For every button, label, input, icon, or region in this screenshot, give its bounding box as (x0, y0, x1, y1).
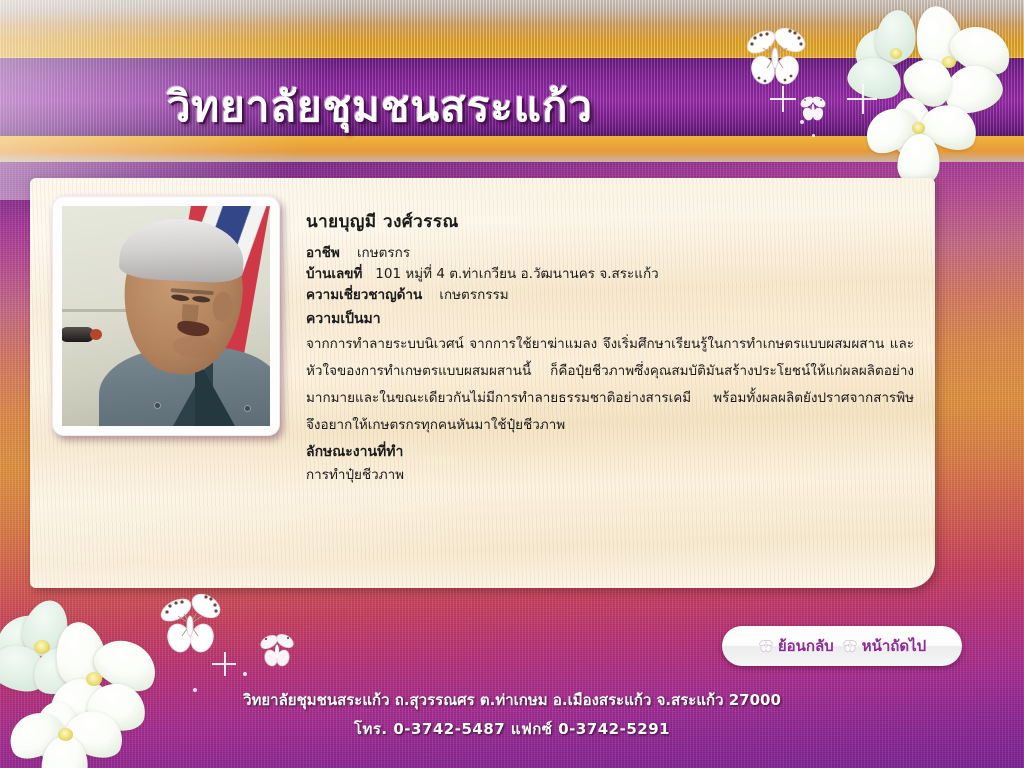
next-button[interactable]: หน้าถัดไป (842, 634, 926, 658)
footer: วิทยาลัยชุมชนสระแก้ว ถ.สุวรรณศร ต.ท่าเกษ… (0, 686, 1024, 744)
avatar-frame (52, 196, 280, 436)
microphone-icon (62, 327, 94, 342)
sparkle-dot (243, 672, 247, 676)
next-button-label: หน้าถัดไป (862, 634, 926, 658)
field-expertise-value: เกษตรกรรม (439, 287, 508, 303)
field-address-value: 101 หมู่ที่ 4 ต.ท่าเกวียน อ.วัฒนานคร จ.ส… (375, 266, 658, 282)
section-heading-work: ลักษณะงานที่ทำ (306, 442, 914, 463)
back-button[interactable]: ย้อนกลับ (758, 634, 834, 658)
butterfly-icon-bottom (150, 584, 230, 664)
photo-shirt-button (244, 405, 251, 412)
butterfly-icon (758, 639, 774, 653)
slide-canvas: วิทยาลัยชุมชนสระแก้ว (0, 0, 1024, 768)
field-occupation-label: อาชีพ (306, 245, 340, 261)
sparkle-dot (812, 134, 815, 137)
section-body-background: จากการทำลายระบบนิเวศน์ จากการใช้ยาฆ่าแมล… (306, 331, 914, 439)
lily-flower-decoration-top (838, 2, 1024, 187)
field-occupation: อาชีพ เกษตรกร (306, 243, 914, 264)
sparkle-dot (800, 120, 804, 124)
field-expertise-label: ความเชี่ยวชาญด้าน (306, 287, 422, 303)
sparkle-decoration (212, 663, 236, 665)
navigation-bar: ย้อนกลับ หน้าถัดไป (722, 626, 962, 666)
butterfly-icon (735, 18, 815, 98)
portrait-photo (62, 206, 270, 426)
person-details: นายบุญมี วงศ์วรรณ อาชีพ เกษตรกร บ้านเลขท… (306, 208, 914, 487)
back-button-label: ย้อนกลับ (778, 634, 834, 658)
footer-address: วิทยาลัยชุมชนสระแก้ว ถ.สุวรรณศร ต.ท่าเกษ… (0, 686, 1024, 715)
photo-shirt-button (154, 402, 161, 409)
section-heading-background: ความเป็นมา (306, 309, 914, 330)
footer-phone: โทร. 0-3742-5487 แฟกซ์ 0-3742-5291 (0, 715, 1024, 744)
field-address-label: บ้านเลขที่ (306, 266, 362, 282)
field-expertise: ความเชี่ยวชาญด้าน เกษตรกรรม (306, 285, 914, 306)
butterfly-small-icon-bottom (254, 628, 300, 674)
section-body-work: การทำปุ๋ยชีวภาพ (306, 463, 914, 487)
field-address: บ้านเลขที่ 101 หมู่ที่ 4 ต.ท่าเกวียน อ.ว… (306, 264, 914, 285)
person-name: นายบุญมี วงศ์วรรณ (306, 208, 914, 235)
sparkle-decoration (770, 98, 796, 100)
page-title: วิทยาลัยชุมชนสระแก้ว (0, 74, 760, 140)
butterfly-icon (842, 639, 858, 653)
field-occupation-value: เกษตรกร (357, 245, 410, 261)
